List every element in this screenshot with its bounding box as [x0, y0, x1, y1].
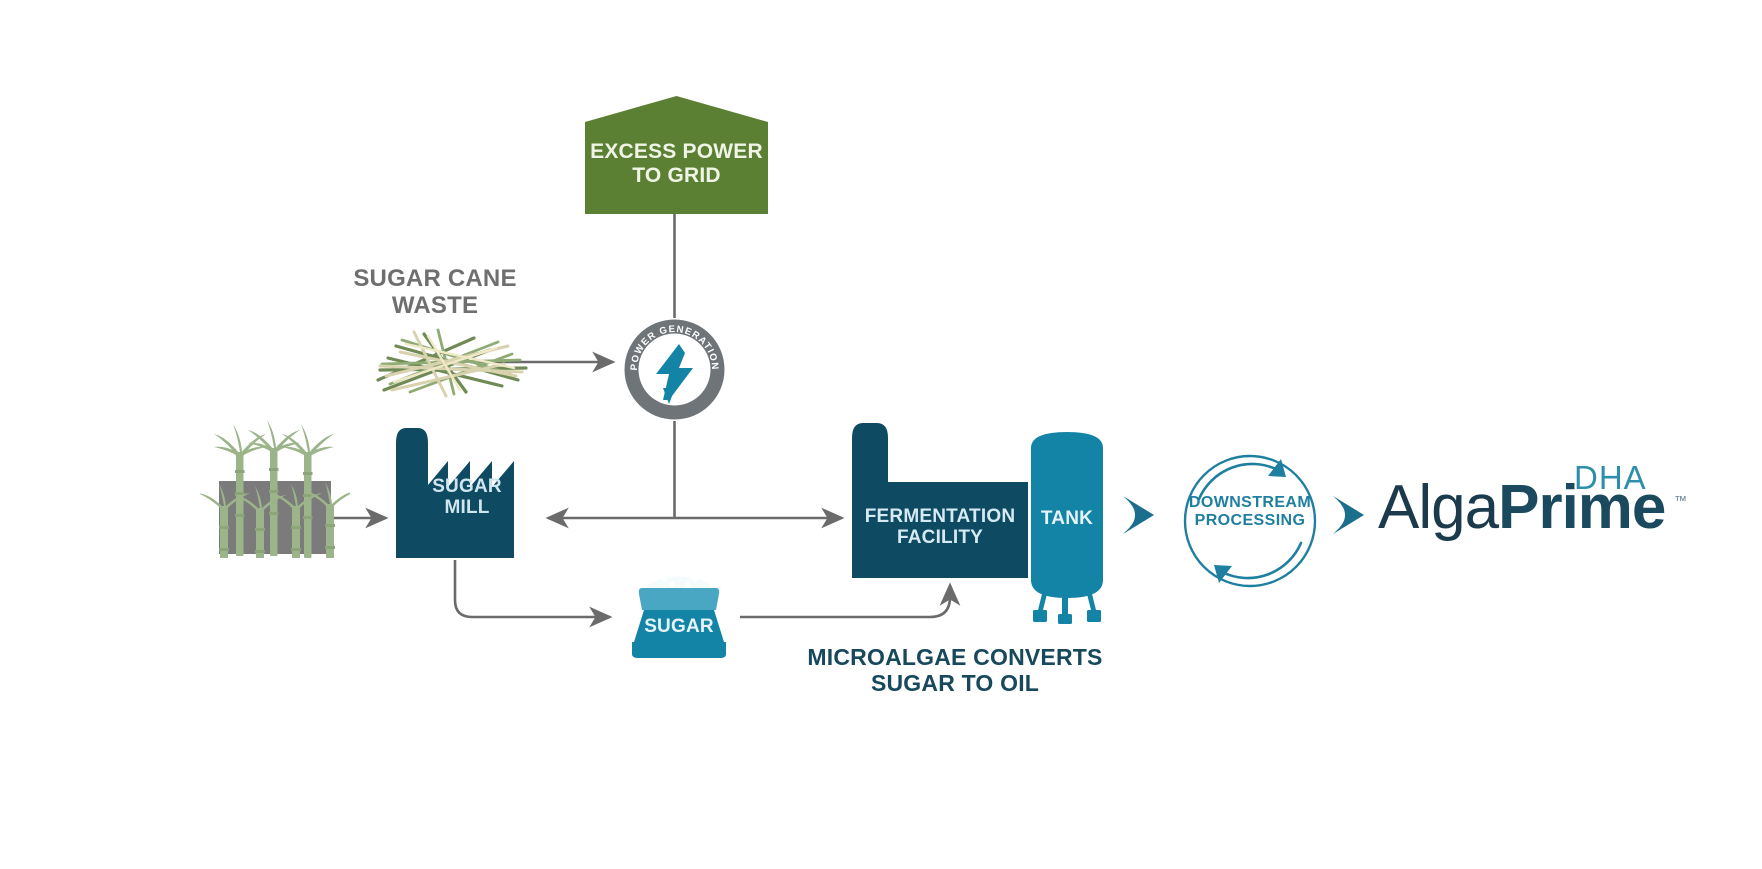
excess-power-label: EXCESS POWER TO GRID: [585, 140, 768, 187]
wire-sugar-to-fermentation: [740, 585, 950, 617]
fermentation-facility-icon: [852, 420, 1028, 580]
sugar-bag-icon: [620, 566, 738, 660]
chevron-right-icon-2: [1330, 494, 1368, 536]
tank-label: TANK: [1029, 508, 1105, 529]
microalgae-converts-note: MICROALGAE CONVERTS SUGAR TO OIL: [790, 645, 1120, 697]
sugar-cane-waste-label: SUGAR CANE WASTE: [345, 266, 525, 320]
power-generation-badge: POWER GENERATION: [623, 318, 726, 421]
algaprime-dha-logo: AlgaPrime DHA ™: [1378, 455, 1698, 547]
sugar-bag-label: SUGAR: [620, 616, 738, 637]
downstream-processing-label: DOWNSTREAM PROCESSING: [1182, 494, 1318, 530]
sugar-mill-label: SUGAR MILL: [396, 476, 538, 519]
sugar-cane-waste-icon: [370, 320, 540, 400]
logo-dha-superscript: DHA: [1574, 459, 1647, 497]
wire-mill-to-sugar: [455, 560, 610, 617]
fermentation-facility-label: FERMENTATION FACILITY: [848, 506, 1032, 549]
logo-trademark-symbol: ™: [1674, 493, 1687, 508]
sugar-cane-plants-icon: [200, 408, 350, 558]
chevron-right-icon-1: [1120, 494, 1158, 536]
process-diagram-canvas: SUGAR CANE WASTE: [0, 0, 1762, 869]
logo-alga-text: Alga: [1378, 473, 1498, 542]
